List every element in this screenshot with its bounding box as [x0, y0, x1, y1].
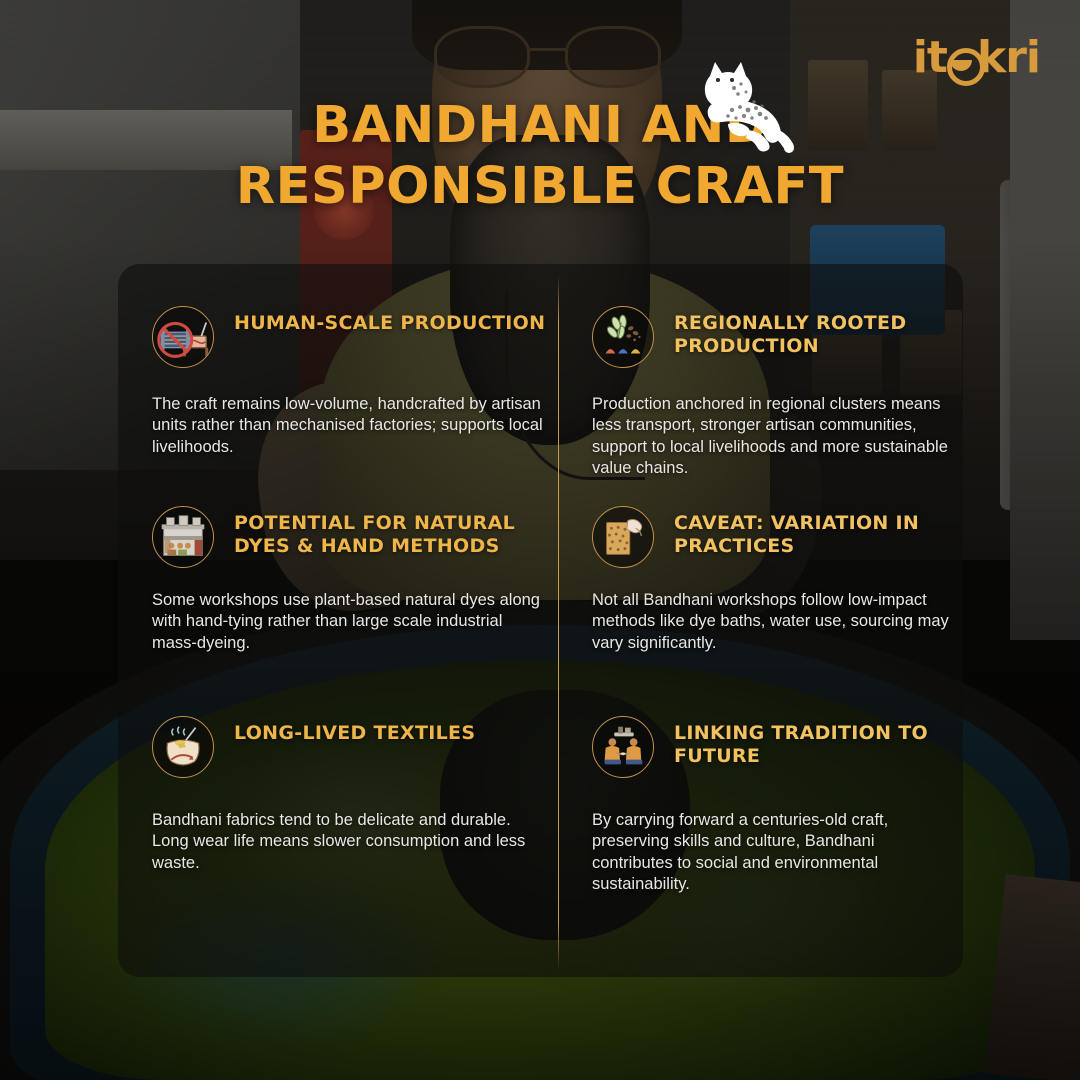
card-long-lived-textiles: LONG-LIVED TEXTILES Bandhani fabrics ten… — [118, 674, 558, 977]
card-heading: POTENTIAL FOR NATURAL DYES & HAND METHOD… — [234, 506, 550, 558]
card-body: Not all Bandhani workshops follow low-im… — [592, 590, 955, 654]
card-header: CAVEAT: VARIATION IN PRACTICES — [592, 506, 955, 568]
card-heading: LONG-LIVED TEXTILES — [234, 716, 475, 745]
card-heading: REGIONALLY ROOTED PRODUCTION — [674, 306, 955, 358]
card-body: Some workshops use plant-based natural d… — [152, 590, 544, 654]
title-line-2: RESPONSIBLE CRAFT — [0, 157, 1080, 218]
page-title: BANDHANI AND RESPONSIBLE CRAFT — [0, 96, 1080, 217]
steaming-dye-pot-icon — [152, 716, 214, 778]
card-header: LINKING TRADITION TO FUTURE — [592, 716, 955, 778]
card-linking-tradition-to-future: LINKING TRADITION TO FUTURE By carrying … — [558, 674, 963, 977]
card-heading: HUMAN-SCALE PRODUCTION — [234, 306, 545, 335]
card-header: HUMAN-SCALE PRODUCTION — [152, 306, 550, 368]
title-line-1: BANDHANI AND — [0, 96, 1080, 157]
logo-text: it — [913, 32, 947, 83]
logo-text-suffix: kri — [977, 32, 1040, 83]
cards-grid: HUMAN-SCALE PRODUCTION The craft remains… — [118, 264, 963, 977]
two-artisans-icon — [592, 716, 654, 778]
card-header: POTENTIAL FOR NATURAL DYES & HAND METHOD… — [152, 506, 550, 568]
card-human-scale-production: HUMAN-SCALE PRODUCTION The craft remains… — [118, 264, 558, 464]
itokri-logo[interactable]: itkri — [913, 36, 1040, 80]
workshop-building-icon — [152, 506, 214, 568]
card-body: The craft remains low-volume, handcrafte… — [152, 394, 544, 458]
card-heading: LINKING TRADITION TO FUTURE — [674, 716, 955, 768]
card-heading: CAVEAT: VARIATION IN PRACTICES — [674, 506, 955, 558]
card-natural-dyes-hand-methods: POTENTIAL FOR NATURAL DYES & HAND METHOD… — [118, 464, 558, 674]
card-regionally-rooted-production: REGIONALLY ROOTED PRODUCTION Production … — [558, 264, 963, 464]
logo-basket-icon — [947, 46, 977, 76]
hand-holding-fabric-icon — [592, 506, 654, 568]
no-factory-icon — [152, 306, 214, 368]
card-header: REGIONALLY ROOTED PRODUCTION — [592, 306, 955, 368]
card-body: By carrying forward a centuries-old craf… — [592, 810, 955, 896]
card-header: LONG-LIVED TEXTILES — [152, 716, 550, 778]
cat-silhouette-icon — [688, 58, 798, 153]
herbs-and-pigments-icon — [592, 306, 654, 368]
card-body: Bandhani fabrics tend to be delicate and… — [152, 810, 544, 874]
card-caveat-variation-in-practices: CAVEAT: VARIATION IN PRACTICES Not all B… — [558, 464, 963, 674]
